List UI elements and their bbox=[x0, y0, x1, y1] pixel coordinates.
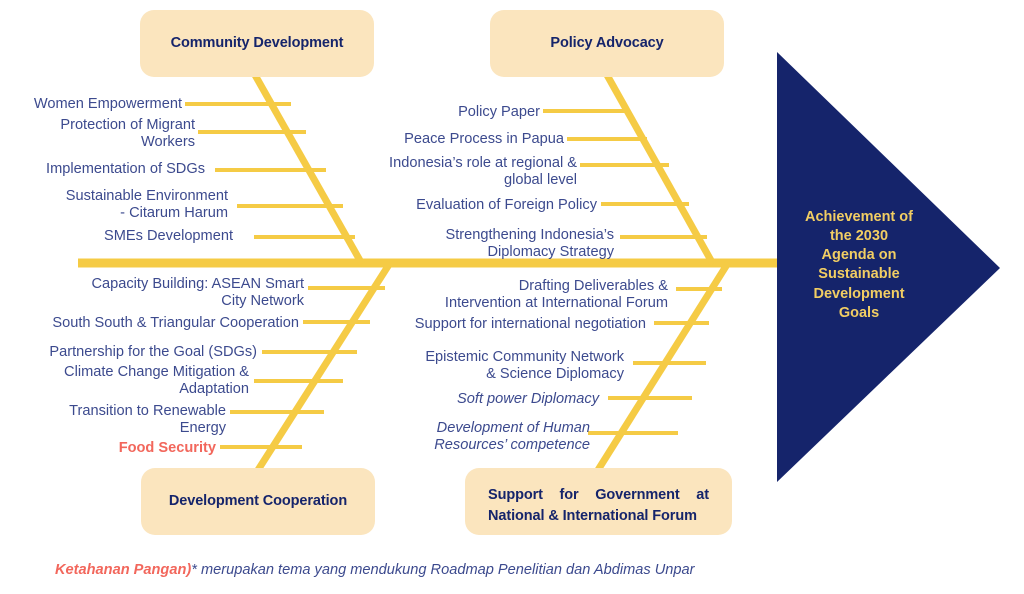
cause-transition-to-renewable-energy[interactable]: Transition to Renewable Energy bbox=[0, 403, 226, 437]
category-label: Support for Government at National & Int… bbox=[488, 468, 709, 527]
cause-indonesias-role-at-regional-global-level[interactable]: Indonesia’s role at regional & global le… bbox=[330, 155, 577, 189]
cause-epistemic-community-network-science-diplomacy[interactable]: Epistemic Community Network & Science Di… bbox=[350, 349, 624, 383]
cause-support-for-international-negotiation[interactable]: Support for international negotiation bbox=[350, 316, 646, 333]
cause-partnership-for-the-goal-sdgs[interactable]: Partnership for the Goal (SDGs) bbox=[0, 344, 257, 361]
cause-soft-power-diplomacy[interactable]: Soft power Diplomacy bbox=[350, 391, 599, 408]
cause-drafting-deliverables-intervention[interactable]: Drafting Deliverables & Intervention at … bbox=[350, 278, 668, 312]
goal-label: Achievement of the 2030 Agenda on Sustai… bbox=[798, 208, 920, 323]
cause-policy-paper[interactable]: Policy Paper bbox=[330, 104, 540, 121]
category-box-policy-advocacy[interactable]: Policy Advocacy bbox=[490, 10, 724, 77]
cause-food-security[interactable]: Food Security bbox=[0, 440, 216, 457]
category-label: Development Cooperation bbox=[169, 491, 347, 512]
cause-smes-development[interactable]: SMEs Development bbox=[0, 228, 233, 245]
category-box-community-development[interactable]: Community Development bbox=[140, 10, 374, 77]
cause-peace-process-in-papua[interactable]: Peace Process in Papua bbox=[330, 131, 564, 148]
fishbone-diagram: Community Development Policy Advocacy De… bbox=[0, 0, 1024, 594]
footer-caption: Ketahanan Pangan)* merupakan tema yang m… bbox=[55, 562, 694, 578]
cause-implementation-of-sdgs[interactable]: Implementation of SDGs bbox=[0, 161, 205, 178]
cause-south-south-triangular-cooperation[interactable]: South South & Triangular Cooperation bbox=[0, 315, 299, 332]
category-label: Community Development bbox=[171, 33, 344, 54]
cause-capacity-building-asean-smart-city-network[interactable]: Capacity Building: ASEAN Smart City Netw… bbox=[0, 276, 304, 310]
cause-sustainable-environment-citarum-harum[interactable]: Sustainable Environment - Citarum Harum bbox=[0, 188, 228, 222]
cause-evaluation-of-foreign-policy[interactable]: Evaluation of Foreign Policy bbox=[330, 197, 597, 214]
category-box-support-for-government[interactable]: Support for Government at National & Int… bbox=[465, 468, 732, 535]
cause-climate-change-mitigation-adaptation[interactable]: Climate Change Mitigation & Adaptation bbox=[0, 364, 249, 398]
footer-highlight: Ketahanan Pangan) bbox=[55, 562, 191, 578]
cause-strengthening-indonesias-diplomacy-strategy[interactable]: Strengthening Indonesia’s Diplomacy Stra… bbox=[330, 227, 614, 261]
cause-women-empowerment[interactable]: Women Empowerment bbox=[0, 96, 182, 113]
category-label: Policy Advocacy bbox=[550, 33, 663, 54]
cause-development-of-human-resources-competence[interactable]: Development of Human Resources’ competen… bbox=[350, 420, 590, 454]
category-box-development-cooperation[interactable]: Development Cooperation bbox=[141, 468, 375, 535]
footer-rest: * merupakan tema yang mendukung Roadmap … bbox=[191, 562, 694, 578]
cause-protection-of-migrant-workers[interactable]: Protection of Migrant Workers bbox=[0, 117, 195, 151]
